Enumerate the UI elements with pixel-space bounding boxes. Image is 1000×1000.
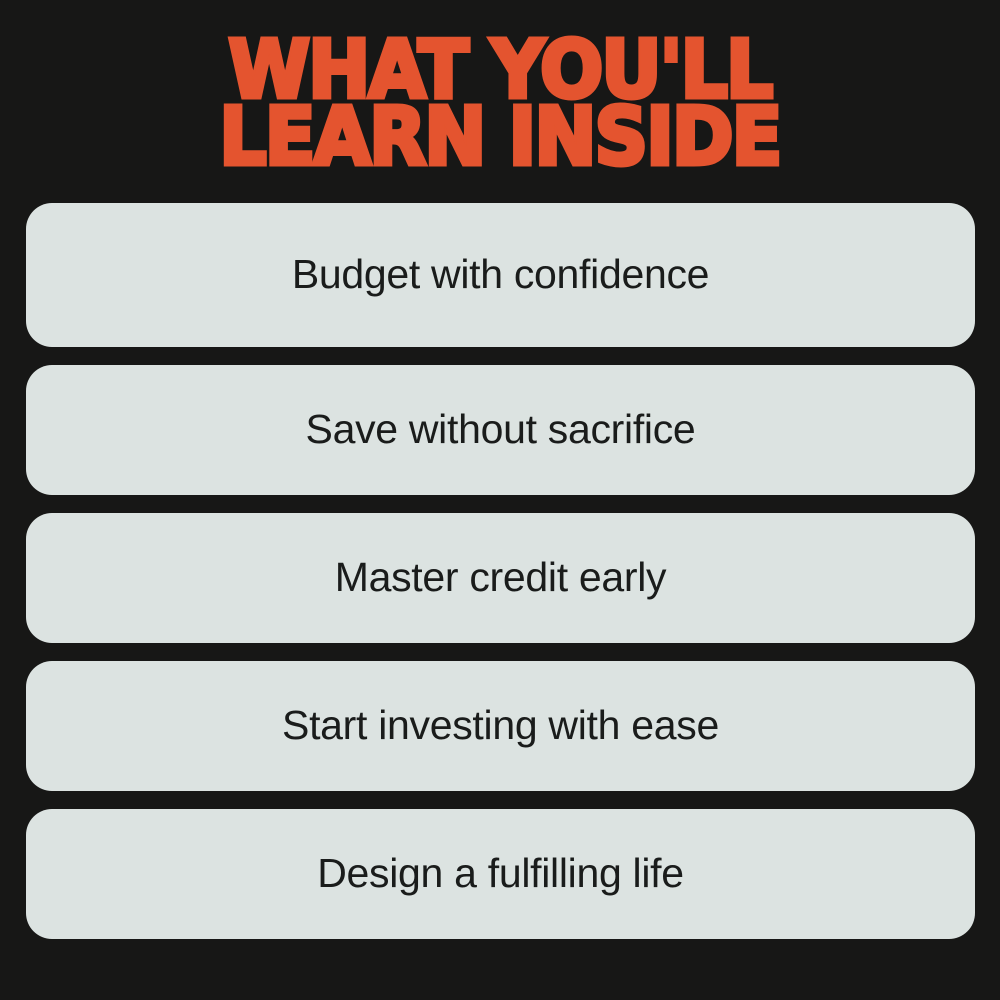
learning-points-list: Budget with confidence Save without sacr… <box>26 203 975 939</box>
list-item-label: Save without sacrifice <box>306 407 696 452</box>
list-item-label: Master credit early <box>335 555 667 600</box>
poster-canvas: WHAT YOU'LL LEARN INSIDE Budget with con… <box>0 0 1000 1000</box>
page-title-line-2: LEARN INSIDE <box>0 103 1000 173</box>
list-item[interactable]: Budget with confidence <box>26 203 975 347</box>
list-item[interactable]: Design a fulfilling life <box>26 809 975 939</box>
list-item-label: Budget with confidence <box>292 252 709 297</box>
page-title: WHAT YOU'LL LEARN INSIDE <box>0 36 1000 161</box>
list-item[interactable]: Master credit early <box>26 513 975 643</box>
list-item[interactable]: Save without sacrifice <box>26 365 975 495</box>
list-item[interactable]: Start investing with ease <box>26 661 975 791</box>
list-item-label: Start investing with ease <box>282 703 719 748</box>
list-item-label: Design a fulfilling life <box>317 851 684 896</box>
